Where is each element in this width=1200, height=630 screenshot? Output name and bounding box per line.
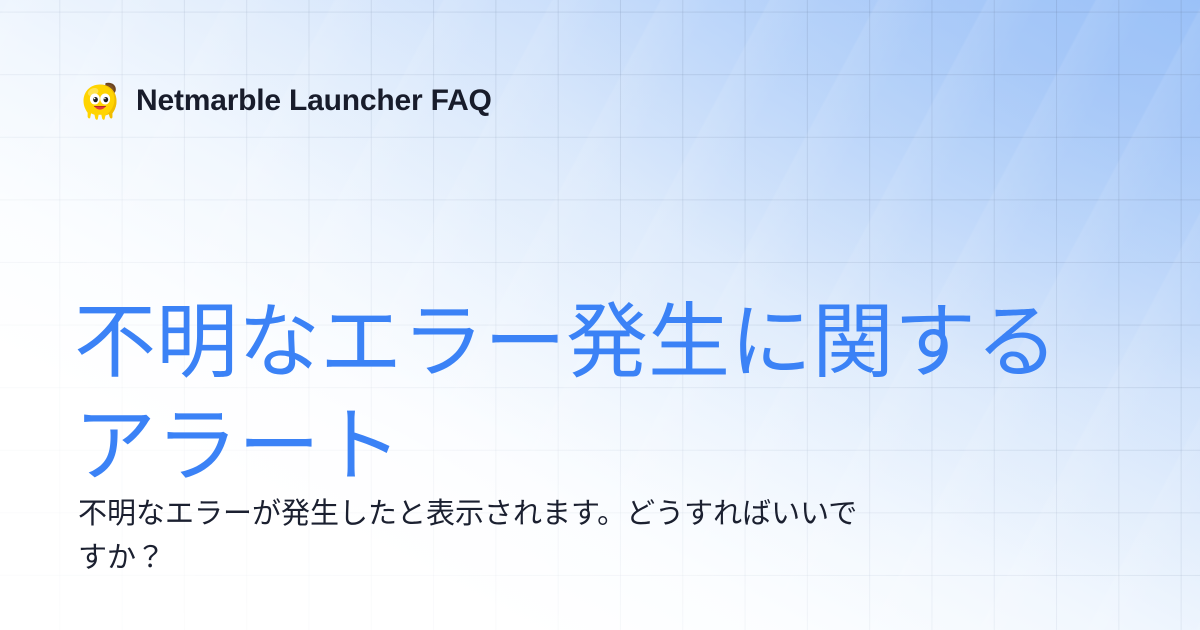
page-title: 不明なエラー発生に関するアラート	[74, 291, 1139, 499]
brand-header: Netmarble Launcher FAQ	[78, 78, 492, 124]
faq-og-card: Netmarble Launcher FAQ 不明なエラー発生に関するアラート …	[0, 0, 1200, 630]
brand-title: Netmarble Launcher FAQ	[136, 86, 492, 116]
page-subtitle: 不明なエラーが発生したと表示されます。どうすればいいですか？	[78, 492, 868, 580]
netmarble-mascot-icon	[78, 79, 122, 123]
card-content: Netmarble Launcher FAQ 不明なエラー発生に関するアラート …	[0, 0, 1200, 630]
